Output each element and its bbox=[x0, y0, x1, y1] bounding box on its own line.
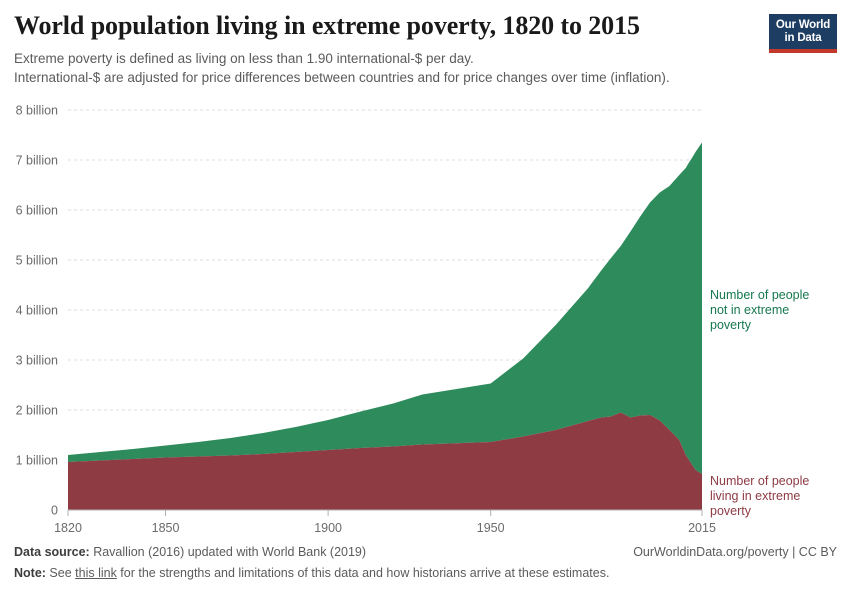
logo-line-2: in Data bbox=[773, 32, 833, 45]
chart-legend: Number of peoplenot in extremepovertyNum… bbox=[710, 288, 809, 518]
y-axis-tick-label: 7 billion bbox=[16, 154, 58, 168]
y-axis-tick-label: 8 billion bbox=[16, 104, 58, 118]
footer-source-row: Data source: Ravallion (2016) updated wi… bbox=[14, 543, 837, 564]
y-axis-tick-label: 6 billion bbox=[16, 204, 58, 218]
axes-group bbox=[68, 510, 702, 516]
subtitle-line-1: Extreme poverty is defined as living on … bbox=[14, 49, 754, 68]
footer-note-row: Note: See this link for the strengths an… bbox=[14, 564, 837, 585]
data-source-label: Data source: bbox=[14, 545, 90, 559]
y-axis-tick-label: 2 billion bbox=[16, 404, 58, 418]
note-after: for the strengths and limitations of thi… bbox=[117, 566, 610, 580]
note: Note: See this link for the strengths an… bbox=[14, 564, 609, 582]
attribution[interactable]: OurWorldinData.org/poverty | CC BY bbox=[633, 543, 837, 561]
y-axis-tick-label: 1 billion bbox=[16, 454, 58, 468]
legend-label-living-in-extreme-poverty: Number of people bbox=[710, 474, 809, 488]
chart-page: World population living in extreme pover… bbox=[0, 0, 850, 600]
y-axis-tick-label: 0 bbox=[51, 504, 58, 518]
subtitle-line-2: International-$ are adjusted for price d… bbox=[14, 68, 754, 87]
note-label: Note: bbox=[14, 566, 46, 580]
legend-label-not-in-extreme-poverty: Number of people bbox=[710, 288, 809, 302]
chart-plot-area: 01 billion2 billion3 billion4 billion5 b… bbox=[0, 96, 850, 536]
x-axis-tick-label: 1820 bbox=[54, 521, 82, 535]
legend-label-not-in-extreme-poverty: poverty bbox=[710, 318, 752, 332]
legend-label-living-in-extreme-poverty: poverty bbox=[710, 504, 752, 518]
page-title: World population living in extreme pover… bbox=[14, 10, 754, 42]
data-source-value: Ravallion (2016) updated with World Bank… bbox=[90, 545, 366, 559]
chart-header: World population living in extreme pover… bbox=[14, 10, 754, 87]
x-axis-tick-label: 1850 bbox=[152, 521, 180, 535]
note-before: See bbox=[46, 566, 75, 580]
x-axis-tick-label: 2015 bbox=[688, 521, 716, 535]
owid-logo[interactable]: Our World in Data bbox=[769, 14, 837, 53]
y-axis-ticks: 01 billion2 billion3 billion4 billion5 b… bbox=[16, 104, 58, 518]
y-axis-tick-label: 5 billion bbox=[16, 254, 58, 268]
areas-group bbox=[68, 143, 702, 511]
logo-line-1: Our World bbox=[773, 19, 833, 32]
legend-label-living-in-extreme-poverty: living in extreme bbox=[710, 489, 800, 503]
stacked-area-chart[interactable]: 01 billion2 billion3 billion4 billion5 b… bbox=[0, 96, 850, 536]
y-axis-tick-label: 3 billion bbox=[16, 354, 58, 368]
note-link[interactable]: this link bbox=[75, 566, 117, 580]
x-axis-tick-label: 1900 bbox=[314, 521, 342, 535]
y-axis-tick-label: 4 billion bbox=[16, 304, 58, 318]
chart-footer: Data source: Ravallion (2016) updated wi… bbox=[14, 543, 837, 585]
x-axis-tick-label: 1950 bbox=[477, 521, 505, 535]
legend-label-not-in-extreme-poverty: not in extreme bbox=[710, 303, 789, 317]
data-source: Data source: Ravallion (2016) updated wi… bbox=[14, 543, 366, 561]
chart-subtitle: Extreme poverty is defined as living on … bbox=[14, 49, 754, 87]
x-axis-ticks: 18201850190019502015 bbox=[54, 521, 716, 535]
